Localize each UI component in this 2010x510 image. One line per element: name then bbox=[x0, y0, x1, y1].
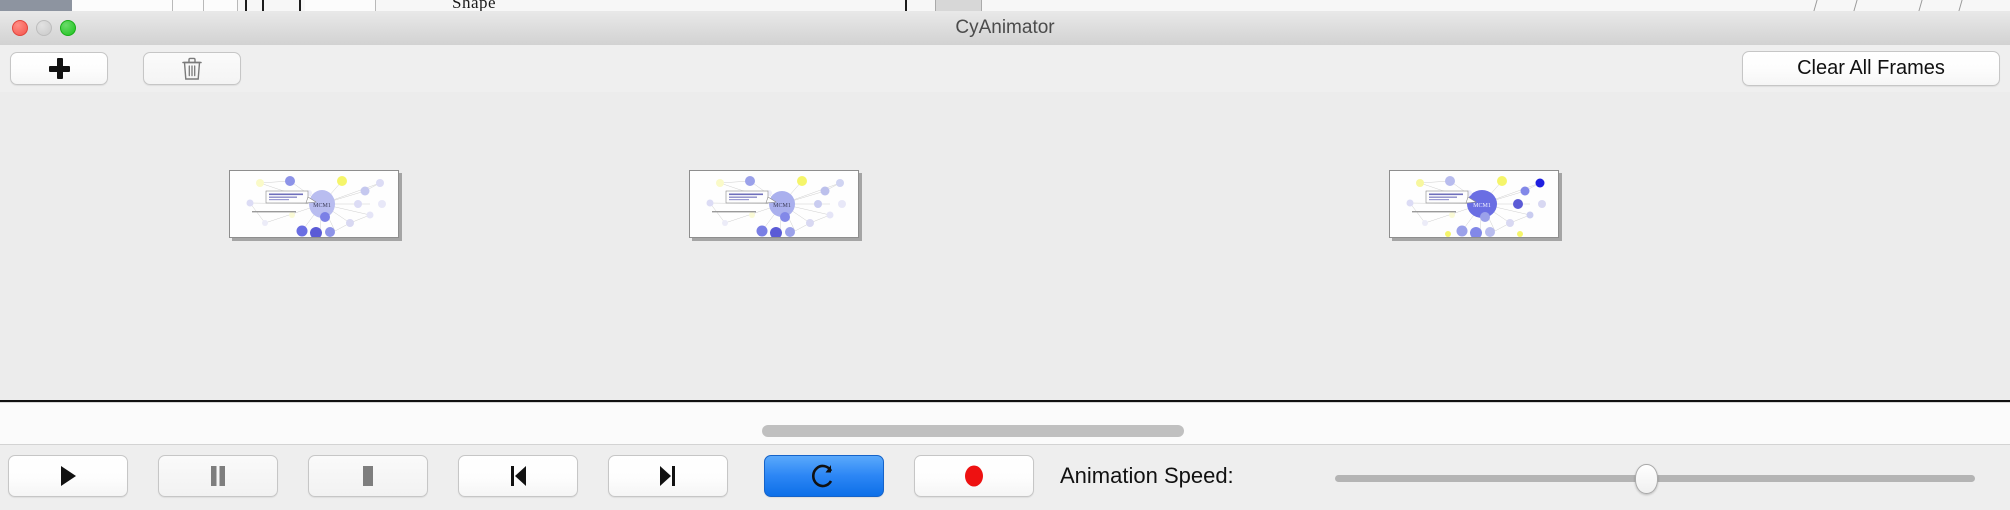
title-bar[interactable]: CyAnimator bbox=[0, 11, 2010, 46]
background-window-slant bbox=[1958, 0, 1962, 11]
stop-icon bbox=[357, 464, 379, 488]
cyanimator-window: Shape CyAnimator Clear All Fram bbox=[0, 0, 2010, 510]
network-graph-preview: MCM1 bbox=[1390, 171, 1559, 238]
background-window-block bbox=[935, 0, 982, 11]
timeline-scrollbar[interactable] bbox=[0, 402, 2010, 446]
timeline-panel[interactable]: MCM1 bbox=[0, 92, 2010, 402]
toolbar: Clear All Frames bbox=[0, 45, 2010, 93]
animation-speed-slider[interactable] bbox=[1335, 475, 1975, 482]
background-window-slant bbox=[1813, 0, 1817, 11]
playback-controls: Animation Speed: bbox=[0, 444, 2010, 510]
plus-icon bbox=[49, 58, 70, 79]
loop-button[interactable] bbox=[764, 455, 884, 497]
background-window-tick bbox=[905, 0, 907, 11]
play-button[interactable] bbox=[8, 455, 128, 497]
background-window-segment bbox=[204, 0, 238, 11]
record-icon bbox=[962, 463, 986, 489]
frame-thumbnail[interactable]: MCM1 bbox=[1389, 170, 1559, 238]
loop-icon bbox=[812, 463, 836, 489]
background-window-dark-segment bbox=[0, 0, 72, 11]
pause-icon bbox=[207, 464, 229, 488]
skip-back-icon bbox=[506, 464, 530, 488]
add-frame-button[interactable] bbox=[10, 52, 108, 85]
clear-all-frames-button[interactable]: Clear All Frames bbox=[1742, 51, 2000, 86]
slider-thumb[interactable] bbox=[1635, 464, 1658, 494]
skip-forward-icon bbox=[656, 464, 680, 488]
svg-text:MCM1: MCM1 bbox=[1473, 203, 1491, 209]
trash-icon bbox=[182, 57, 202, 80]
stop-button[interactable] bbox=[308, 455, 428, 497]
play-icon bbox=[57, 464, 79, 488]
window-title: CyAnimator bbox=[0, 11, 2010, 45]
svg-text:MCM1: MCM1 bbox=[313, 203, 331, 209]
svg-text:MCM1: MCM1 bbox=[773, 203, 791, 209]
background-window-slant bbox=[1853, 0, 1857, 11]
background-window-tick bbox=[299, 0, 301, 11]
background-window-segment bbox=[305, 0, 376, 11]
frame-thumbnail[interactable]: MCM1 bbox=[229, 170, 399, 238]
first-frame-button[interactable] bbox=[458, 455, 578, 497]
record-button[interactable] bbox=[914, 455, 1034, 497]
network-graph-preview: MCM1 bbox=[690, 171, 859, 238]
animation-speed-label: Animation Speed: bbox=[1060, 455, 1234, 497]
frame-thumbnail[interactable]: MCM1 bbox=[689, 170, 859, 238]
pause-button[interactable] bbox=[158, 455, 278, 497]
background-window-slant bbox=[1918, 0, 1922, 11]
background-window-segment bbox=[173, 0, 204, 11]
last-frame-button[interactable] bbox=[608, 455, 728, 497]
background-window-segment bbox=[72, 0, 173, 11]
network-graph-preview: MCM1 bbox=[230, 171, 399, 238]
delete-frame-button[interactable] bbox=[143, 52, 241, 85]
background-window-tick bbox=[262, 0, 264, 11]
background-window-tick bbox=[245, 0, 247, 11]
timeline-scrollbar-thumb[interactable] bbox=[762, 425, 1184, 437]
